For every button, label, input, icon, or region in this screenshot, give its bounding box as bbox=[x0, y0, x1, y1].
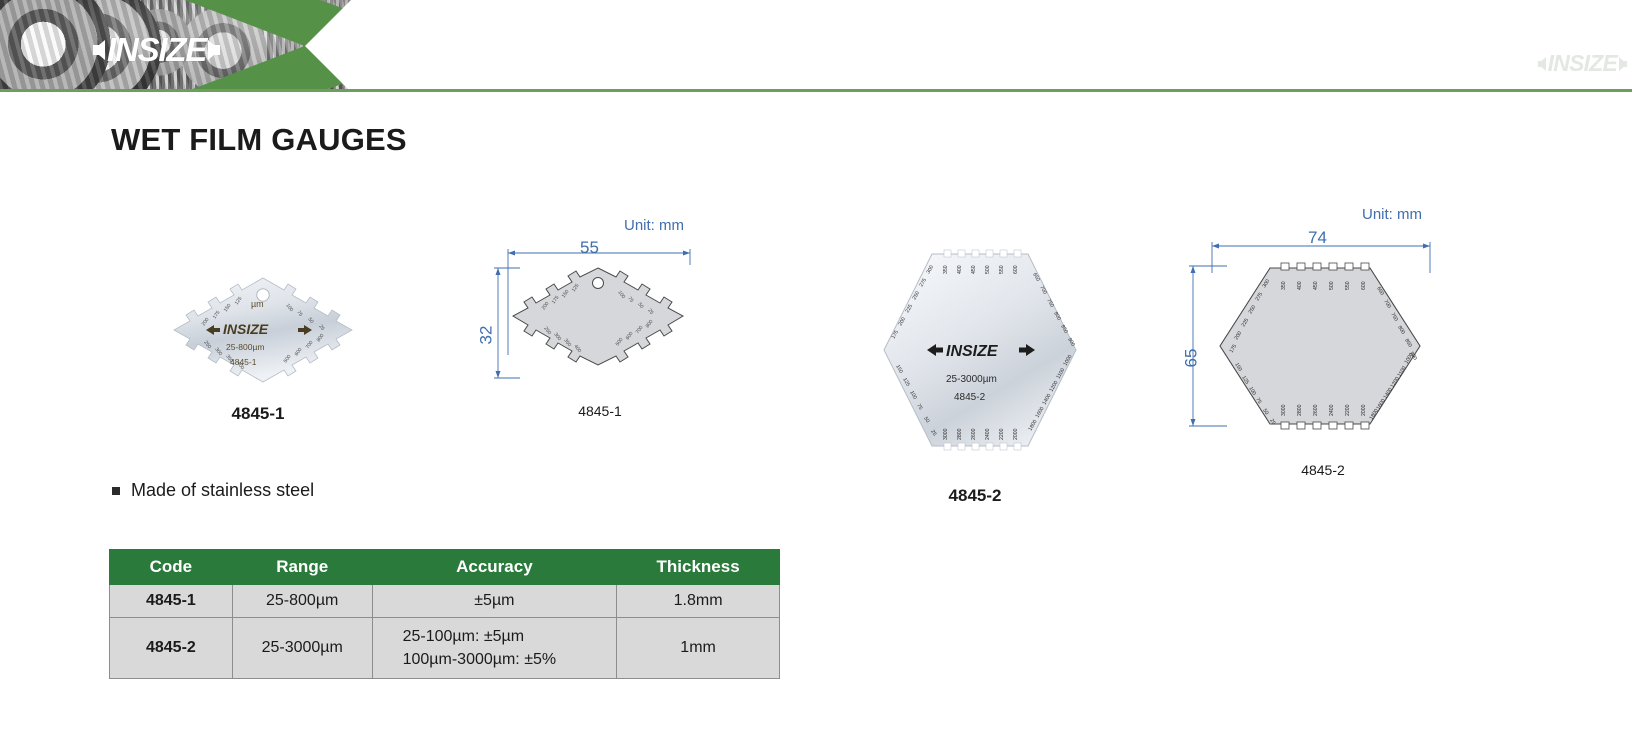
page-header: INSIZE INSIZE bbox=[0, 0, 1632, 92]
watermark-left-arrow-icon bbox=[1538, 57, 1546, 71]
table-row: 4845-2 25-3000µm 25-100µm: ±5µm 100µm-30… bbox=[110, 618, 780, 679]
feature-item-0: Made of stainless steel bbox=[131, 480, 314, 501]
column-header-code: Code bbox=[110, 550, 233, 585]
photo-caption-4845-2: 4845-2 bbox=[915, 486, 1035, 506]
column-header-accuracy: Accuracy bbox=[372, 550, 617, 585]
svg-text:2600: 2600 bbox=[1313, 404, 1319, 416]
insize-watermark: INSIZE bbox=[1538, 52, 1627, 75]
logo-right-arrow-icon bbox=[208, 40, 220, 60]
page-title: WET FILM GAUGES bbox=[111, 122, 407, 158]
watermark-right-arrow-icon bbox=[1619, 57, 1627, 71]
svg-text:3000: 3000 bbox=[943, 428, 949, 440]
svg-text:2200: 2200 bbox=[1345, 404, 1351, 416]
dimension-height-drawing-2: 65 bbox=[1181, 349, 1201, 368]
svg-text:600: 600 bbox=[1361, 281, 1367, 290]
svg-text:500: 500 bbox=[1329, 281, 1335, 290]
svg-text:550: 550 bbox=[1345, 281, 1351, 290]
cell-thickness-0: 1.8mm bbox=[617, 585, 780, 618]
cell-thickness-1: 1mm bbox=[617, 618, 780, 679]
gauge-hole-drawing-1 bbox=[593, 278, 604, 289]
product-photo-4845-1: µm INSIZE 25-800µm 4845-1 125 150 175 20… bbox=[138, 262, 388, 397]
column-header-thickness: Thickness bbox=[617, 550, 780, 585]
feature-list: Made of stainless steel bbox=[112, 480, 314, 501]
gauge-code-4845-2: 4845-2 bbox=[954, 392, 986, 403]
drawing-caption-4845-2: 4845-2 bbox=[1268, 462, 1378, 478]
product-photo-4845-2: INSIZE 25-3000µm 4845-2 350 400 450 500 … bbox=[870, 240, 1090, 475]
technical-drawing-4845-2: 350 400 450 500 550 600 300 275 250 225 … bbox=[1185, 228, 1435, 453]
gauge-outline-4845-2 bbox=[1220, 263, 1420, 429]
gauge-range-4845-2: 25-3000µm bbox=[946, 374, 997, 385]
dimension-width-drawing-2: 74 bbox=[1308, 228, 1327, 248]
gauge-outline-4845-1 bbox=[513, 268, 683, 365]
svg-text:2800: 2800 bbox=[1297, 404, 1303, 416]
svg-text:450: 450 bbox=[1313, 281, 1319, 290]
svg-text:INSIZE: INSIZE bbox=[223, 321, 269, 337]
svg-text:3000: 3000 bbox=[1281, 404, 1287, 416]
technical-drawing-4845-1: 125 150 175 200 250 300 350 400 100 75 5… bbox=[490, 235, 705, 400]
header-white-area bbox=[305, 0, 1632, 92]
cell-accuracy-0: ±5µm bbox=[372, 585, 617, 618]
bullet-square-icon bbox=[112, 487, 120, 495]
dimension-width-drawing-1: 55 bbox=[580, 238, 599, 258]
svg-text:2400: 2400 bbox=[1329, 404, 1335, 416]
watermark-wordmark: INSIZE bbox=[1548, 52, 1617, 75]
svg-text:350: 350 bbox=[943, 265, 949, 274]
svg-text:2000: 2000 bbox=[1361, 404, 1367, 416]
svg-text:600: 600 bbox=[1013, 265, 1019, 274]
svg-text:500: 500 bbox=[985, 265, 991, 274]
svg-text:2600: 2600 bbox=[971, 428, 977, 440]
svg-text:400: 400 bbox=[957, 265, 963, 274]
table-header-row: Code Range Accuracy Thickness bbox=[110, 550, 780, 585]
cell-code-1: 4845-2 bbox=[110, 618, 233, 679]
logo-left-arrow-icon bbox=[93, 40, 105, 60]
header-bottom-rule bbox=[0, 89, 1632, 92]
gauge-range-4845-1: 25-800µm bbox=[226, 342, 264, 352]
dimension-height-drawing-1: 32 bbox=[476, 326, 496, 345]
cell-accuracy-1-line-0: 25-100µm: ±5µm bbox=[377, 625, 613, 648]
drawing-caption-4845-1: 4845-1 bbox=[545, 403, 655, 419]
cell-code-0: 4845-1 bbox=[110, 585, 233, 618]
photo-caption-4845-1: 4845-1 bbox=[193, 404, 323, 424]
svg-text:450: 450 bbox=[971, 265, 977, 274]
svg-text:2400: 2400 bbox=[985, 428, 991, 440]
svg-text:400: 400 bbox=[1297, 281, 1303, 290]
logo-wordmark: INSIZE bbox=[107, 33, 206, 66]
cell-accuracy-1-line-1: 100µm-3000µm: ±5% bbox=[377, 648, 613, 671]
cell-range-1: 25-3000µm bbox=[232, 618, 372, 679]
svg-text:2000: 2000 bbox=[1013, 428, 1019, 440]
svg-text:2800: 2800 bbox=[957, 428, 963, 440]
svg-text:350: 350 bbox=[1281, 281, 1287, 290]
svg-text:550: 550 bbox=[999, 265, 1005, 274]
specification-table: Code Range Accuracy Thickness 4845-1 25-… bbox=[109, 549, 780, 679]
insize-logo: INSIZE bbox=[93, 33, 220, 66]
svg-text:2200: 2200 bbox=[999, 428, 1005, 440]
cell-accuracy-1: 25-100µm: ±5µm 100µm-3000µm: ±5% bbox=[372, 618, 617, 679]
unit-label-drawing-1: Unit: mm bbox=[624, 217, 684, 234]
svg-text:INSIZE: INSIZE bbox=[946, 343, 999, 360]
gauge-unit-label: µm bbox=[251, 299, 264, 309]
cell-range-0: 25-800µm bbox=[232, 585, 372, 618]
column-header-range: Range bbox=[232, 550, 372, 585]
table-row: 4845-1 25-800µm ±5µm 1.8mm bbox=[110, 585, 780, 618]
unit-label-drawing-2: Unit: mm bbox=[1362, 206, 1422, 223]
